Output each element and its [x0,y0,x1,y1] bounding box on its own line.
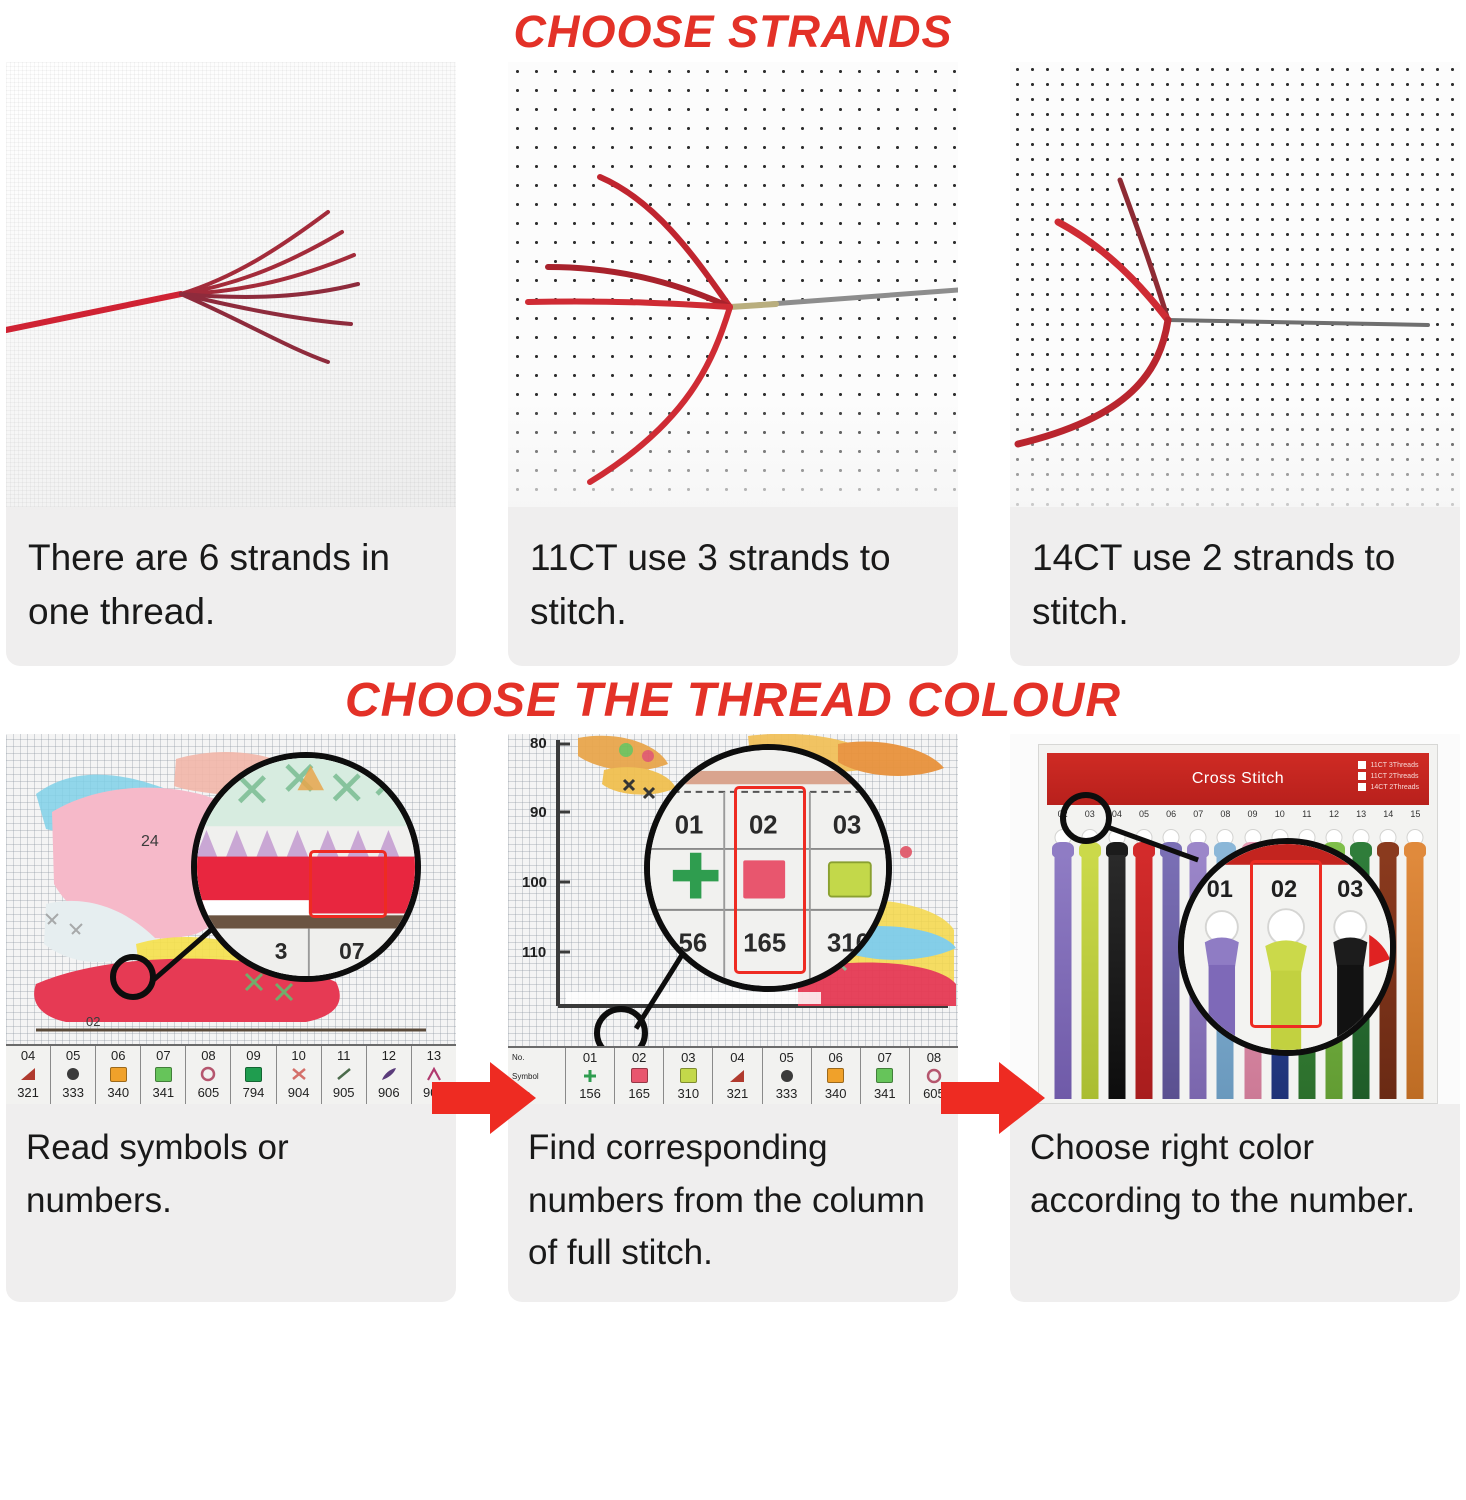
square-icon [680,1065,697,1086]
pattern-chart-legend-numbers-photo: 80 90 100 110 [508,734,958,1104]
svg-text:110: 110 [522,944,546,961]
square-icon [631,1065,648,1086]
square-icon [245,1063,262,1085]
svg-text:100: 100 [522,874,547,891]
square-icon [876,1065,893,1086]
legend-cell: 05 333 [763,1048,812,1104]
svg-text:03: 03 [1337,877,1363,903]
thread-skein[interactable] [1103,829,1130,1099]
legend-cell: 06 340 [812,1048,861,1104]
option-row[interactable]: 11CT 2Threads [1358,772,1419,780]
legend-cell: 09 794 [231,1046,276,1104]
dot-icon [64,1063,82,1085]
cross-icon [581,1065,599,1086]
thread-skein[interactable] [1402,829,1429,1099]
three-strands-needle-11ct-photo [508,62,958,507]
card-caption: 14CT use 2 strands to stitch. [1010,507,1460,666]
six-red-strands-illustration [6,62,456,507]
square-icon [110,1063,127,1085]
legend-cell: 06 340 [96,1046,141,1104]
magnifier-focus-ring [110,954,156,1000]
thread-skein[interactable] [1130,829,1157,1099]
svg-text:01: 01 [1207,877,1233,903]
dot-icon [778,1065,796,1086]
card-caption: There are 6 strands in one thread. [6,507,456,666]
circle-icon [199,1063,217,1085]
thread-card-header: Cross Stitch 11CT 3Threads 11CT 2Threads… [1047,753,1429,805]
legend-cell: 12 906 [367,1046,412,1104]
slash-icon [335,1063,353,1085]
highlight-box [309,850,387,918]
triangle-icon [728,1065,746,1086]
legend-cell: 10 904 [277,1046,322,1104]
triangle-icon [19,1063,37,1085]
legend-cell: 03 310 [664,1048,713,1104]
six-strands-on-plain-fabric-photo [6,62,456,507]
magnifier-lens-thread: 01 02 03 [1178,838,1396,1056]
card-choose-colour: Cross Stitch 11CT 3Threads 11CT 2Threads… [1010,734,1460,1302]
thread-colour-card-row: 24 02 [0,734,1466,1302]
checkbox-icon[interactable] [1358,772,1366,780]
thread-skein[interactable] [1049,829,1076,1099]
thread-colour-card-photo: Cross Stitch 11CT 3Threads 11CT 2Threads… [1010,734,1460,1104]
magnifier-focus-ring [1060,792,1112,844]
svg-text:07: 07 [339,938,364,964]
legend-cell: 04 321 [6,1046,51,1104]
card-six-strands: There are 6 strands in one thread. [6,62,456,666]
chart-cell-marker: 24 [141,833,159,850]
legend-cell: 07 341 [141,1046,186,1104]
arrow-step-2-to-3 [941,1060,1045,1136]
two-strands-needle-14ct-photo [1010,62,1460,507]
legend-cell: 01 156 [566,1048,615,1104]
cross-icon [290,1063,308,1085]
checkbox-icon[interactable] [1358,783,1366,791]
magnifier-lens-numbers: 01 02 03 56 165 310 [644,744,892,992]
strands-card-row: There are 6 strands in one thread. 11CT … [0,62,1466,666]
infographic-page: CHOOSE STRANDS There are [0,0,1466,1500]
highlight-box [734,786,806,974]
card-caption: Find corresponding numbers from the colu… [508,1104,958,1302]
option-row[interactable]: 11CT 3Threads [1358,761,1419,769]
svg-text:01: 01 [675,812,704,840]
card-11ct-three-strands: 11CT use 3 strands to stitch. [508,62,958,666]
card-find-numbers: 80 90 100 110 [508,734,958,1302]
three-red-strands-with-needle-illustration [508,62,958,507]
option-row[interactable]: 14CT 2Threads [1358,783,1419,791]
two-red-strands-with-needle-illustration [1010,62,1460,507]
square-icon [827,1065,844,1086]
pattern-chart-symbols-photo: 24 02 [6,734,456,1104]
arrow-step-1-to-2 [432,1060,536,1136]
svg-text:03: 03 [833,812,862,840]
svg-text:310: 310 [827,930,870,958]
svg-text:3: 3 [275,938,288,964]
card-caption: Choose right color according to the numb… [1010,1104,1460,1249]
magnifier-lens-symbols: 3 07 [191,752,421,982]
highlight-box [1250,860,1322,1028]
legend-cell: 04 321 [713,1048,762,1104]
thread-card-options: 11CT 3Threads 11CT 2Threads 14CT 2Thread… [1358,761,1419,791]
thread-card-title: Cross Stitch [1192,770,1284,788]
symbol-legend-table: 04 321 05 333 06 [6,1044,456,1104]
svg-text:56: 56 [679,930,708,958]
feather-icon [380,1063,398,1085]
legend-cell: 11 905 [322,1046,367,1104]
legend-cell: 02 165 [615,1048,664,1104]
svg-text:02: 02 [86,1014,100,1029]
section-heading-choose-strands: CHOOSE STRANDS [0,0,1466,62]
checkbox-icon[interactable] [1358,761,1366,769]
section-heading-choose-thread-colour: CHOOSE THE THREAD COLOUR [0,666,1466,734]
legend-cell: 05 333 [51,1046,96,1104]
legend-cell: 07 341 [861,1048,910,1104]
square-icon [155,1063,172,1085]
card-caption: Read symbols or numbers. [6,1104,456,1249]
card-14ct-two-strands: 14CT use 2 strands to stitch. [1010,62,1460,666]
legend-cell: 08 605 [186,1046,231,1104]
svg-text:90: 90 [530,804,547,821]
svg-text:80: 80 [530,735,547,752]
number-legend-table: No. Symbol DMC 01 156 02 165 [508,1046,958,1104]
thread-skein[interactable] [1076,829,1103,1099]
card-read-symbols: 24 02 [6,734,456,1302]
card-caption: 11CT use 3 strands to stitch. [508,507,958,666]
